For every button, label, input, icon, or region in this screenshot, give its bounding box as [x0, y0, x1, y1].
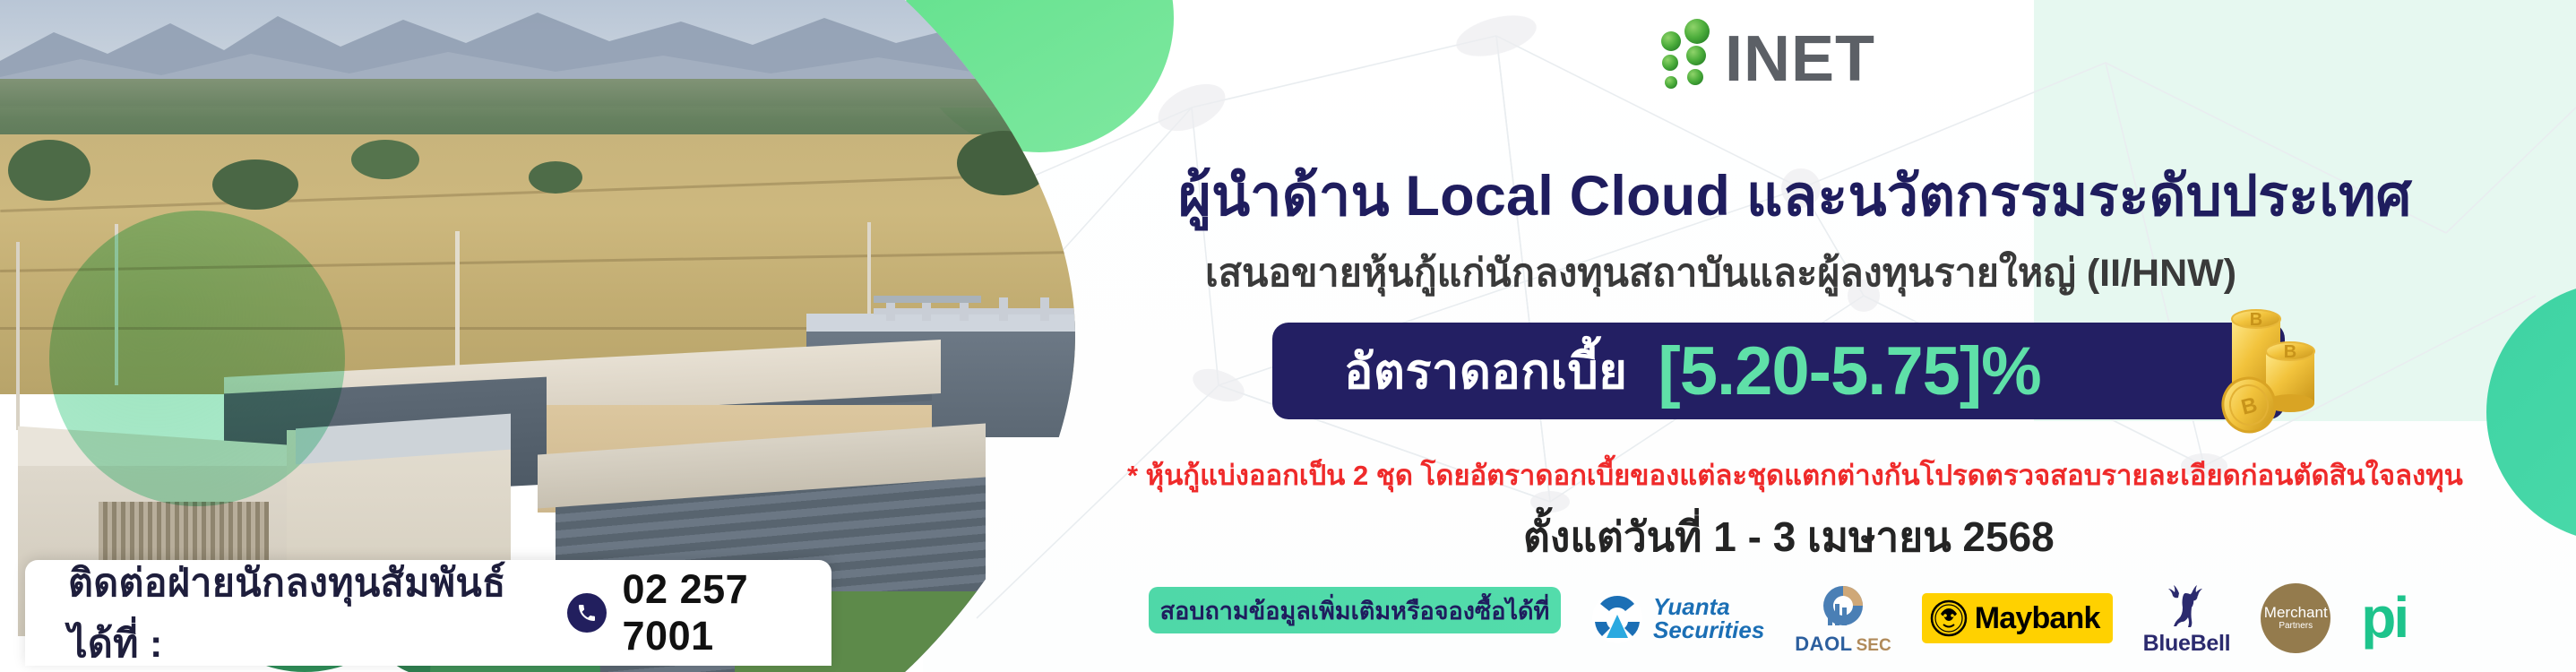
maybank-wordmark: Maybank: [1975, 601, 2100, 636]
bluebell-deer-icon: [2163, 581, 2210, 629]
svg-text:B: B: [2250, 310, 2262, 330]
svg-text:B: B: [2284, 342, 2296, 362]
page-subheadline: เสนอขายหุ้นกู้แก่นักลงทุนสถาบันและผู้ลงท…: [1205, 242, 2513, 303]
merchant-line2: Partners: [2279, 620, 2313, 633]
partner-maybank[interactable]: Maybank: [1922, 578, 2113, 659]
pi-wordmark: pi: [2361, 595, 2407, 641]
yuanta-line1: Yuanta: [1653, 595, 1764, 618]
gold-coin-stack-icon: B B B: [2200, 296, 2334, 439]
partner-yuanta[interactable]: Yuanta Securities: [1590, 578, 1764, 659]
more-info-cta-button[interactable]: สอบถามข้อมูลเพิ่มเติมหรือจองซื้อได้ที่: [1149, 587, 1561, 633]
interest-rate-value: [5.20-5.75]%: [1658, 332, 2040, 410]
offering-disclaimer: * หุ้นกู้แบ่งออกเป็น 2 ชุด โดยอัตราดอกเบ…: [1127, 452, 2561, 497]
partner-bluebell[interactable]: BlueBell: [2143, 578, 2231, 659]
inet-logo: INET: [1653, 16, 1875, 90]
yuanta-arrow-icon: [1590, 591, 1644, 645]
phone-icon: [567, 593, 607, 633]
inet-bond-offering-banner: ติดต่อฝ่ายนักลงทุนสัมพันธ์ได้ที่ : 02 25…: [0, 0, 2576, 672]
photo-trees: [0, 108, 1129, 224]
daol-donut-icon: [1815, 581, 1871, 631]
interest-rate-box: อัตราดอกเบี้ย [5.20-5.75]%: [1272, 323, 2285, 419]
contact-phone-number[interactable]: 02 257 7001: [623, 566, 831, 659]
yuanta-line2: Securities: [1653, 618, 1764, 642]
page-headline: ผู้นำด้าน Local Cloud และนวัตกรรมระดับปร…: [1178, 151, 2540, 240]
daol-line2: SEC: [1857, 636, 1891, 656]
merchant-circle-icon: Merchant Partners: [2261, 583, 2330, 653]
investor-relations-contact-card: ติดต่อฝ่ายนักลงทุนสัมพันธ์ได้ที่ : 02 25…: [25, 560, 831, 666]
mint-circle-decoration-left: [49, 211, 345, 506]
partner-merchant[interactable]: Merchant Partners: [2261, 578, 2330, 659]
partner-daol[interactable]: DAOL SEC: [1795, 578, 1891, 659]
bluebell-wordmark: BlueBell: [2143, 631, 2231, 657]
partner-pi[interactable]: pi: [2361, 578, 2407, 659]
offering-dates: ตั้งแต่วันที่ 1 - 3 เมษายน 2568: [1523, 504, 2055, 570]
merchant-line1: Merchant: [2264, 605, 2328, 620]
maybank-tiger-icon: [1930, 599, 1968, 637]
daol-line1: DAOL: [1795, 633, 1852, 656]
partner-logos: Yuanta Securities DAOL SEC: [1590, 573, 2549, 663]
contact-label: ติดต่อฝ่ายนักลงทุนสัมพันธ์ได้ที่ :: [68, 552, 555, 672]
inet-wordmark: INET: [1725, 29, 1875, 90]
interest-rate-label: อัตราดอกเบี้ย: [1344, 332, 1627, 409]
inet-dots-logo-icon: [1653, 16, 1723, 90]
